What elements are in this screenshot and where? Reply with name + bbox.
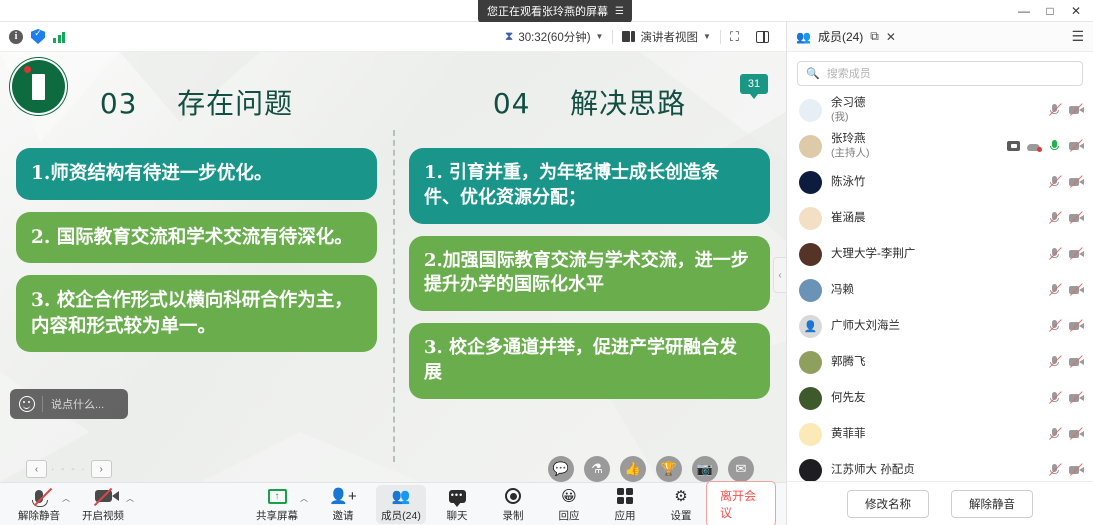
meeting-timer[interactable]: ⧗ 30:32(60分钟) ▼	[496, 29, 613, 45]
toolbar-item-invite[interactable]: 👤+ 邀请	[318, 485, 368, 524]
slide-card: 2.加强国际教育交流与学术交流，进一步提升办学的国际化水平	[409, 236, 770, 312]
watching-screen-banner: 您正在观看张玲燕的屏幕 ☰	[478, 0, 632, 23]
mic-muted-icon[interactable]	[1048, 319, 1062, 333]
reaction-trophy-icon[interactable]: 🏆	[656, 456, 682, 482]
speaker-view-icon	[622, 31, 635, 42]
slide-heading-left-number: 03	[100, 87, 138, 120]
participant-name-block: 郭腾飞	[831, 355, 1039, 369]
toolbar-item-participants[interactable]: 👥 成员(24)	[376, 485, 426, 524]
meeting-window: 您正在观看张玲燕的屏幕 ☰ — □ ✕ i ⧗ 30:32(60分钟) ▼ 演讲…	[0, 0, 1093, 525]
split-view-button[interactable]	[747, 31, 778, 43]
slide-card: 1. 引育并重，为年轻博士成长创造条件、优化资源分配；	[409, 148, 770, 224]
screen-share-icon	[1007, 141, 1020, 151]
mic-muted-icon[interactable]	[1048, 355, 1062, 369]
participant-status-icons	[1048, 283, 1083, 297]
title-bar: 您正在观看张玲燕的屏幕 ☰ — □ ✕	[0, 0, 1093, 22]
camera-off-icon	[95, 487, 112, 506]
participant-name-block: 何先友	[831, 391, 1039, 405]
reaction-chat-icon[interactable]: 💬	[548, 456, 574, 482]
record-icon	[505, 487, 521, 506]
banner-menu-icon[interactable]: ☰	[615, 6, 623, 17]
participant-status-icons	[1048, 211, 1083, 225]
search-participants-box[interactable]: 🔍	[797, 61, 1083, 86]
avatar	[799, 351, 822, 374]
signal-bars-icon[interactable]	[53, 31, 65, 43]
avatar	[799, 279, 822, 302]
maximize-button[interactable]: □	[1037, 1, 1063, 21]
camera-off-icon[interactable]	[1069, 319, 1083, 333]
toolbar-item-unmute[interactable]: 解除静音 ︿	[14, 485, 64, 524]
participant-role: (我)	[831, 111, 1039, 124]
mic-muted-icon[interactable]	[1048, 283, 1062, 297]
chevron-up-icon[interactable]: ︿	[300, 493, 308, 504]
participant-row[interactable]: 张玲燕(主持人)	[787, 128, 1093, 164]
mic-muted-icon[interactable]	[1048, 463, 1062, 477]
hourglass-icon: ⧗	[505, 29, 513, 44]
fullscreen-button[interactable]: ⛶	[721, 29, 747, 45]
fullscreen-icon: ⛶	[730, 29, 738, 45]
toolbar-item-settings[interactable]: ⚙ 设置	[656, 485, 706, 524]
camera-off-icon[interactable]	[1069, 463, 1083, 477]
avatar	[799, 423, 822, 446]
mic-muted-icon[interactable]	[1048, 175, 1062, 189]
slide-nav-dots: · - - ·	[51, 464, 87, 475]
people-icon: 👥	[796, 30, 811, 44]
gear-icon: ⚙	[674, 487, 687, 506]
toolbar-item-reaction[interactable]: 😀 回应	[544, 485, 594, 524]
participant-status-icons	[1048, 319, 1083, 333]
slide-prev-button[interactable]: ‹	[26, 460, 47, 478]
info-icon[interactable]: i	[9, 30, 23, 44]
search-icon: 🔍	[806, 67, 820, 80]
reaction-thumbs-up-icon[interactable]: 👍	[620, 456, 646, 482]
meeting-timer-label: 30:32(60分钟)	[518, 29, 590, 45]
participant-name-block: 余习德(我)	[831, 96, 1039, 124]
camera-off-icon[interactable]	[1069, 355, 1083, 369]
participant-row[interactable]: 余习德(我)	[787, 92, 1093, 128]
toolbar-item-start-video[interactable]: 开启视频 ︿	[78, 485, 128, 524]
slide-heading-right-number: 04	[493, 87, 531, 120]
camera-off-icon[interactable]	[1069, 391, 1083, 405]
slide-heading-left-text: 存在问题	[177, 87, 293, 120]
emoji-icon[interactable]	[19, 396, 35, 412]
toolbar-label: 回应	[559, 508, 580, 523]
participant-row[interactable]: 郭腾飞	[787, 344, 1093, 380]
participant-name-block: 崔涵晨	[831, 211, 1039, 225]
chevron-up-icon[interactable]: ︿	[126, 493, 134, 504]
participant-row[interactable]: 何先友	[787, 380, 1093, 416]
slide-navigation: ‹ · - - · ›	[26, 460, 112, 478]
participant-name: 冯赖	[831, 283, 1039, 297]
participant-row[interactable]: 👤广师大刘海兰	[787, 308, 1093, 344]
participant-name-block: 江苏师大 孙配贞	[831, 463, 1039, 477]
slide-heading-right: 04 解决思路	[409, 82, 770, 122]
toolbar-label: 共享屏幕	[256, 508, 298, 523]
hamburger-icon[interactable]: ☰	[1071, 28, 1084, 45]
camera-off-icon[interactable]	[1069, 247, 1083, 261]
meeting-top-toolbar: i ⧗ 30:32(60分钟) ▼ 演讲者视图 ▼ ⛶	[0, 22, 786, 52]
participant-name-block: 张玲燕(主持人)	[831, 132, 998, 160]
rename-button[interactable]: 修改名称	[847, 490, 929, 518]
toolbar-label: 成员(24)	[381, 508, 421, 523]
avatar	[799, 243, 822, 266]
participant-row[interactable]: 崔涵晨	[787, 200, 1093, 236]
panel-collapse-handle[interactable]: ‹	[773, 257, 786, 293]
toolbar-label: 邀请	[333, 508, 354, 523]
participant-name: 大理大学-李荆广	[831, 247, 1039, 261]
status-icons: i	[0, 29, 65, 44]
popout-icon[interactable]: ⧉	[870, 29, 879, 44]
participant-name-block: 陈泳竹	[831, 175, 1039, 189]
slide-card: 3. 校企合作形式以横向科研合作为主，内容和形式较为单一。	[16, 275, 377, 352]
presentation-slide: 31 03 存在问题 1.师资结构有待进一步优化。 2. 国际教育交流和学术交流…	[0, 52, 786, 482]
participant-name: 广师大刘海兰	[831, 319, 1039, 333]
avatar: 👤	[799, 315, 822, 338]
meeting-bottom-toolbar: 解除静音 ︿ 开启视频 ︿ 共享屏幕 ︿ 👤+ 邀请 👥 成员(24) ••• …	[0, 482, 786, 525]
window-controls: — □ ✕	[1011, 1, 1089, 21]
participant-name: 陈泳竹	[831, 175, 1039, 189]
toolbar-item-record[interactable]: 录制	[488, 485, 538, 524]
close-button[interactable]: ✕	[1063, 1, 1089, 21]
split-view-icon	[756, 31, 769, 43]
participant-status-icons	[1007, 139, 1083, 153]
participant-name: 余习德	[831, 96, 1039, 110]
participants-panel: 👥 成员(24) ⧉ ✕ ☰ 🔍 余习德(我)张玲燕(主持人)陈泳竹崔涵晨大理大…	[786, 22, 1093, 525]
camera-off-icon[interactable]	[1069, 283, 1083, 297]
reaction-flask-icon[interactable]: ⚗	[584, 456, 610, 482]
floating-chat-placeholder: 说点什么...	[42, 396, 104, 412]
slide-card: 2. 国际教育交流和学术交流有待深化。	[16, 212, 377, 264]
share-screen-icon	[268, 487, 287, 506]
participant-name-block: 广师大刘海兰	[831, 319, 1039, 333]
view-mode-label: 演讲者视图	[640, 29, 698, 45]
participants-panel-footer: 修改名称 解除静音	[787, 481, 1093, 525]
participant-row[interactable]: 黄菲菲	[787, 416, 1093, 452]
slide-cards-right: 1. 引育并重，为年轻博士成长创造条件、优化资源分配； 2.加强国际教育交流与学…	[409, 148, 770, 399]
search-input[interactable]	[827, 68, 1074, 80]
avatar	[799, 207, 822, 230]
participant-status-icons	[1048, 463, 1083, 477]
participants-icon: 👥	[392, 487, 411, 506]
participants-panel-title: 成员(24)	[818, 28, 863, 45]
reaction-envelope-icon[interactable]: ✉	[728, 456, 754, 482]
toolbar-label: 聊天	[447, 508, 468, 523]
slide-next-button[interactable]: ›	[91, 460, 112, 478]
avatar	[799, 171, 822, 194]
apps-icon	[617, 487, 634, 506]
participant-name: 张玲燕	[831, 132, 998, 146]
avatar	[799, 459, 822, 482]
chevron-down-icon[interactable]: ▼	[596, 32, 604, 41]
participant-row[interactable]: 陈泳竹	[787, 164, 1093, 200]
participant-status-icons	[1048, 175, 1083, 189]
minimize-button[interactable]: —	[1011, 1, 1037, 21]
reaction-icon: 😀	[561, 487, 577, 506]
top-toolbar-right: ⧗ 30:32(60分钟) ▼ 演讲者视图 ▼ ⛶	[496, 29, 786, 45]
participant-name-block: 黄菲菲	[831, 427, 1039, 441]
invite-icon: 👤+	[329, 487, 356, 506]
avatar	[799, 135, 822, 158]
camera-off-icon[interactable]	[1069, 427, 1083, 441]
camera-off-icon[interactable]	[1069, 211, 1083, 225]
mic-muted-icon	[35, 487, 43, 506]
participant-name-block: 大理大学-李荆广	[831, 247, 1039, 261]
slide-heading-right-text: 解决思路	[570, 87, 686, 120]
participants-list[interactable]: 余习德(我)张玲燕(主持人)陈泳竹崔涵晨大理大学-李荆广冯赖👤广师大刘海兰郭腾飞…	[787, 90, 1093, 481]
reaction-toolbar: 💬 ⚗ 👍 🏆 📷 ✉	[548, 456, 754, 482]
participant-status-icons	[1048, 103, 1083, 117]
chat-icon: •••	[449, 487, 466, 506]
mic-muted-icon[interactable]	[1048, 103, 1062, 117]
avatar	[799, 99, 822, 122]
cloud-recording-icon	[1027, 141, 1041, 151]
unmute-button[interactable]: 解除静音	[951, 490, 1033, 518]
participant-row[interactable]: 冯赖	[787, 272, 1093, 308]
slide-heading-left: 03 存在问题	[16, 82, 377, 122]
participants-panel-header: 👥 成员(24) ⧉ ✕ ☰	[787, 22, 1093, 52]
participant-name: 郭腾飞	[831, 355, 1039, 369]
participant-row[interactable]: 江苏师大 孙配贞	[787, 452, 1093, 481]
participant-status-icons	[1048, 391, 1083, 405]
shared-screen-stage: 31 03 存在问题 1.师资结构有待进一步优化。 2. 国际教育交流和学术交流…	[0, 52, 786, 482]
toolbar-item-share-screen[interactable]: 共享屏幕 ︿	[252, 485, 302, 524]
toolbar-label: 解除静音	[18, 508, 60, 523]
floating-chat-input[interactable]: 说点什么...	[10, 389, 128, 419]
participant-status-icons	[1048, 355, 1083, 369]
camera-off-icon[interactable]	[1069, 103, 1083, 117]
avatar	[799, 387, 822, 410]
participant-row[interactable]: 大理大学-李荆广	[787, 236, 1093, 272]
mic-muted-icon[interactable]	[1048, 391, 1062, 405]
toolbar-item-apps[interactable]: 应用	[600, 485, 650, 524]
close-icon[interactable]: ✕	[886, 30, 896, 44]
chevron-down-icon[interactable]: ▼	[703, 32, 711, 41]
toolbar-label: 录制	[503, 508, 524, 523]
toolbar-label: 应用	[615, 508, 636, 523]
mic-muted-icon[interactable]	[1048, 211, 1062, 225]
participant-name: 何先友	[831, 391, 1039, 405]
chevron-up-icon[interactable]: ︿	[62, 493, 70, 504]
slide-card: 3. 校企多通道并举，促进产学研融合发展	[409, 323, 770, 399]
participant-name-block: 冯赖	[831, 283, 1039, 297]
mic-muted-icon[interactable]	[1048, 247, 1062, 261]
slide-column-right: 04 解决思路 1. 引育并重，为年轻博士成长创造条件、优化资源分配； 2.加强…	[393, 52, 786, 482]
participant-status-icons	[1048, 247, 1083, 261]
toolbar-item-chat[interactable]: ••• 聊天	[432, 485, 482, 524]
camera-off-icon[interactable]	[1069, 139, 1083, 153]
camera-off-icon[interactable]	[1069, 175, 1083, 189]
view-mode-selector[interactable]: 演讲者视图 ▼	[613, 29, 719, 45]
leave-meeting-button[interactable]: 离开会议	[706, 481, 776, 525]
watching-screen-text: 您正在观看张玲燕的屏幕	[487, 3, 608, 19]
participant-role: (主持人)	[831, 147, 998, 160]
participant-name: 黄菲菲	[831, 427, 1039, 441]
participant-name: 江苏师大 孙配贞	[831, 463, 1039, 477]
shield-check-icon[interactable]	[31, 29, 45, 44]
toolbar-label: 设置	[671, 508, 692, 523]
toolbar-label: 开启视频	[82, 508, 124, 523]
participant-status-icons	[1048, 427, 1083, 441]
reaction-camera-icon[interactable]: 📷	[692, 456, 718, 482]
mic-on-icon[interactable]	[1048, 139, 1062, 153]
participant-name: 崔涵晨	[831, 211, 1039, 225]
slide-card: 1.师资结构有待进一步优化。	[16, 148, 377, 200]
mic-muted-icon[interactable]	[1048, 427, 1062, 441]
slide-cards-left: 1.师资结构有待进一步优化。 2. 国际教育交流和学术交流有待深化。 3. 校企…	[16, 148, 377, 352]
